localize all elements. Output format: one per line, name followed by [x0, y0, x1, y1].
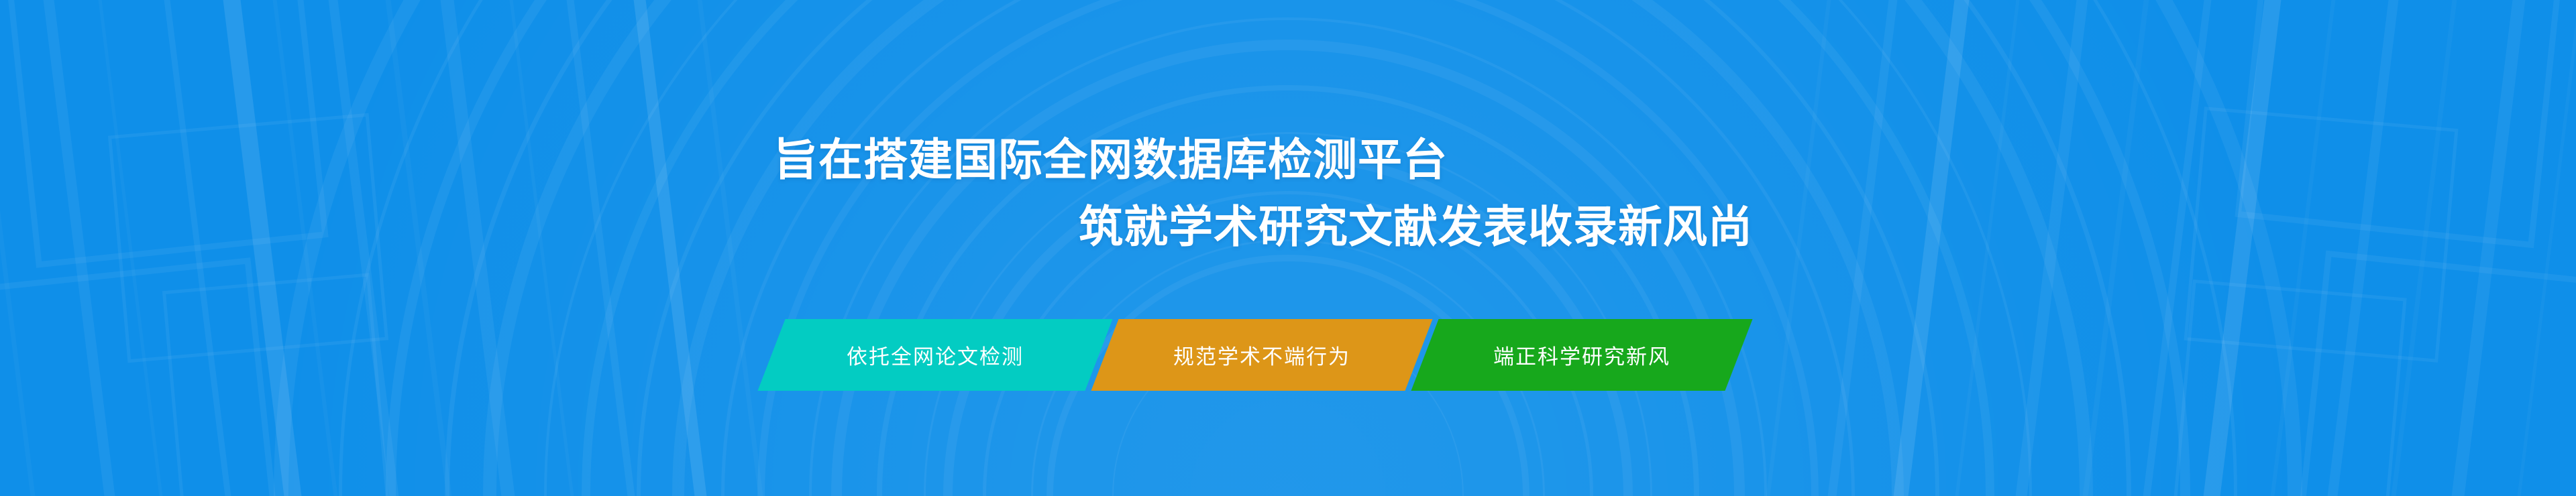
badge-label: 端正科学研究新风: [1493, 340, 1670, 370]
headline-group: 旨在搭建国际全网数据库检测平台 筑就学术研究文献发表收录新风尚: [0, 0, 2576, 496]
streak-line: [2318, 0, 2408, 496]
left-streaks-decoration: [0, 0, 852, 496]
blueprint-frame: [2235, 0, 2563, 248]
streak-line: [2006, 0, 2098, 496]
streak-line: [2381, 0, 2467, 496]
badge-research-ethos[interactable]: 端正科学研究新风: [1411, 319, 1752, 391]
blueprint-frame: [162, 273, 394, 496]
headline-line-1: 旨在搭建国际全网数据库检测平台: [773, 137, 1448, 182]
ring-arc: [757, 0, 1819, 496]
blueprint-frame: [108, 113, 388, 363]
headline-line-2: 筑就学术研究文献发表收录新风尚: [1079, 204, 1753, 249]
ring-arc: [672, 0, 1904, 496]
streak-line: [1818, 0, 1907, 496]
streak-line: [2133, 0, 2221, 496]
streak-line: [624, 0, 716, 496]
streak-line: [557, 0, 645, 496]
ring-arc: [924, 132, 1652, 496]
ring-arc: [386, 0, 2190, 496]
background-decoration: [0, 0, 2576, 496]
streak-line: [2073, 0, 2159, 496]
streak-line: [34, 0, 125, 496]
blueprint-frame: [2184, 107, 2458, 363]
blueprint-frame: [2168, 280, 2406, 496]
badge-paper-detection[interactable]: 依托全网论文检测: [757, 319, 1112, 391]
badge-label: 依托全网论文检测: [847, 340, 1024, 370]
streak-line: [1945, 0, 2029, 496]
streak-line: [1884, 0, 1979, 496]
streak-line: [263, 0, 347, 496]
streak-line: [154, 0, 241, 496]
streak-line: [2261, 0, 2345, 496]
ring-arc: [339, 0, 2237, 496]
streak-line: [2194, 0, 2291, 496]
ring-arc: [483, 0, 2093, 496]
streak-line: [1756, 0, 1841, 496]
background-glow: [282, 0, 2294, 496]
ring-arc: [809, 17, 1767, 496]
blueprint-frame: [0, 257, 282, 496]
blueprint-frame: [5, 0, 328, 268]
ring-arc: [582, 0, 1994, 496]
feature-badge-strip: 依托全网论文检测 规范学术不端行为 端正科学研究新风: [771, 319, 1739, 391]
blueprint-frame: [2294, 251, 2576, 496]
streak-line: [89, 0, 172, 496]
right-streaks-decoration: [1724, 0, 2576, 496]
streak-line: [500, 0, 584, 496]
ring-arc: [721, 0, 1855, 496]
streak-line: [213, 0, 311, 496]
ring-arc: [544, 0, 2032, 496]
ring-arc: [637, 0, 1939, 496]
streak-line: [688, 0, 773, 496]
streak-line: [431, 0, 525, 496]
streak-line: [2508, 0, 2576, 496]
streak-line: [2442, 0, 2535, 496]
streak-line: [319, 0, 409, 496]
ring-arc: [445, 0, 2131, 496]
ring-arc: [877, 85, 1699, 496]
streak-line: [376, 0, 462, 496]
promotional-banner: 旨在搭建国际全网数据库检测平台 筑就学术研究文献发表收录新风尚 依托全网论文检测…: [0, 0, 2576, 496]
streak-line: [0, 0, 45, 496]
badge-academic-misconduct[interactable]: 规范学术不端行为: [1091, 319, 1432, 391]
ring-arc: [831, 40, 1745, 496]
badge-label: 规范学术不端行为: [1173, 340, 1350, 370]
ring-arc: [274, 0, 2302, 496]
